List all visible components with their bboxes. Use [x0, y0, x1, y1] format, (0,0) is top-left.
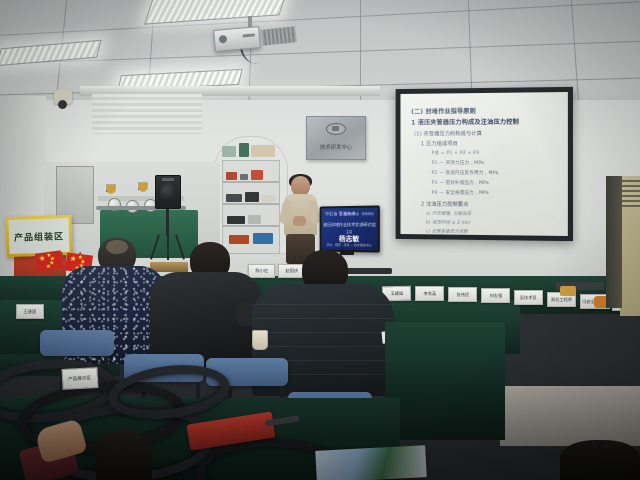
front-right-table [385, 322, 505, 440]
meeting-room-photo: (二) 封堵作业指导原则 1 液压夹管器压力构成及注油压力控制 (1) 夹管器压… [0, 0, 640, 480]
lcd-display: 中石油 管道技术 技术交流会 · 现场培训 液压封堵作业技术交流研讨会 主讲 杨… [320, 205, 380, 252]
floor [500, 386, 640, 446]
ceiling-projector [213, 26, 261, 52]
lcd-title: 液压封堵作业技术交流研讨会 [323, 222, 376, 228]
nameplate: 王建国 [16, 304, 44, 319]
alcove-top-items [220, 140, 282, 160]
screen-glare [400, 92, 567, 236]
wall-camera-lens-icon [58, 100, 67, 109]
orange-sample [560, 286, 576, 296]
nameplate: 刘志强 [481, 288, 510, 303]
projector-vent [261, 26, 296, 45]
company-logo-icon [326, 123, 346, 135]
projector-lens-icon [219, 35, 228, 44]
foreground-head-right [560, 440, 640, 480]
shelf-unit [222, 160, 280, 254]
nameplate: 吴技术员 [514, 290, 543, 305]
lcd-corner-note: 技术交流会 · 现场培训 [344, 212, 373, 216]
slide-surface: (二) 封堵作业指导原则 1 液压夹管器压力构成及注油压力控制 (1) 夹管器压… [400, 92, 567, 236]
lcd-footer: 安全 · 规范 · 高效 — 技术服务中心 [327, 243, 372, 248]
attendee-scalp [106, 240, 128, 254]
nameplate-foreground: 产品展示区 [61, 367, 98, 390]
structural-post [606, 176, 622, 308]
brochure [315, 445, 427, 480]
wall-vent [620, 180, 640, 208]
presenter-head [291, 176, 310, 196]
chair-back [40, 330, 114, 356]
speaker-driver-icon [160, 184, 176, 200]
plaque-text: 技术研发中心 [307, 143, 365, 151]
chinese-flag-icon: ★ ★ ★ ★ ★ [35, 250, 63, 271]
presenter-hands [293, 216, 306, 226]
trophy-icon [138, 182, 146, 190]
projection-screen: (二) 封堵作业指导原则 1 液压夹管器压力构成及注油压力控制 (1) 夹管器压… [396, 87, 573, 241]
paper-cup [252, 330, 268, 350]
window-blind [92, 94, 202, 134]
nameplate: 张伟民 [448, 287, 477, 302]
wall-plaque: 技术研发中心 [306, 116, 366, 160]
attendee-leather-jacket [150, 242, 262, 368]
nameplate: 李秀英 [415, 286, 444, 301]
foreground-head-left [96, 430, 152, 480]
area-sign-text: 产品组装区 [14, 229, 64, 244]
pa-speaker [155, 175, 181, 209]
trophy-icon [106, 184, 114, 192]
speaker-badge [162, 178, 174, 181]
